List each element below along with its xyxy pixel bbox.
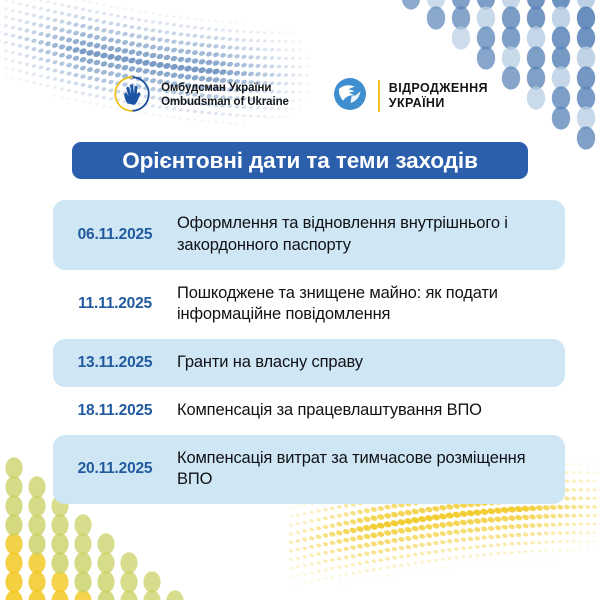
poster-canvas: Омбудсман України Ombudsman of Ukraine В… xyxy=(0,0,600,600)
vidrodzhennia-logo: ВІДРОДЖЕННЯ УКРАЇНИ xyxy=(331,75,488,118)
vidrodzhennia-label-line1: ВІДРОДЖЕННЯ xyxy=(389,81,488,96)
event-topic: Компенсація за працевлаштування ВПО xyxy=(177,400,555,422)
dove-circle-icon xyxy=(331,75,369,118)
page-title-banner: Орієнтовні дати та теми заходів xyxy=(72,142,528,179)
ombudsman-logo: Омбудсман України Ombudsman of Ukraine xyxy=(112,74,289,119)
event-topic: Пошкоджене та знищене майно: як подати і… xyxy=(177,283,555,327)
ombudsman-label-uk: Омбудсман України xyxy=(161,82,289,96)
logo-divider xyxy=(378,80,380,112)
logo-bar: Омбудсман України Ombudsman of Ukraine В… xyxy=(0,70,600,122)
vidrodzhennia-logo-text: ВІДРОДЖЕННЯ УКРАЇНИ xyxy=(389,81,488,111)
schedule-row: 13.11.2025Гранти на власну справу xyxy=(53,339,565,387)
hand-trident-circle-icon xyxy=(112,74,152,119)
event-topic: Оформлення та відновлення внутрішнього і… xyxy=(177,213,555,257)
schedule-row: 06.11.2025Оформлення та відновлення внут… xyxy=(53,200,565,270)
schedule-row: 20.11.2025Компенсація витрат за тимчасов… xyxy=(53,435,565,505)
event-date: 13.11.2025 xyxy=(53,354,177,372)
page-title: Орієнтовні дати та теми заходів xyxy=(122,148,478,174)
event-date: 20.11.2025 xyxy=(53,460,177,478)
vidrodzhennia-label-line2: УКРАЇНИ xyxy=(389,96,488,111)
event-topic: Компенсація витрат за тимчасове розміщен… xyxy=(177,448,555,492)
ombudsman-logo-text: Омбудсман України Ombudsman of Ukraine xyxy=(161,82,289,109)
event-date: 11.11.2025 xyxy=(53,295,177,313)
schedule-table: 06.11.2025Оформлення та відновлення внут… xyxy=(53,200,565,504)
event-topic: Гранти на власну справу xyxy=(177,352,555,374)
schedule-row: 11.11.2025Пошкоджене та знищене майно: я… xyxy=(53,270,565,340)
ombudsman-label-en: Ombudsman of Ukraine xyxy=(161,96,289,110)
schedule-row: 18.11.2025Компенсація за працевлаштуванн… xyxy=(53,387,565,435)
event-date: 18.11.2025 xyxy=(53,402,177,420)
event-date: 06.11.2025 xyxy=(53,226,177,244)
